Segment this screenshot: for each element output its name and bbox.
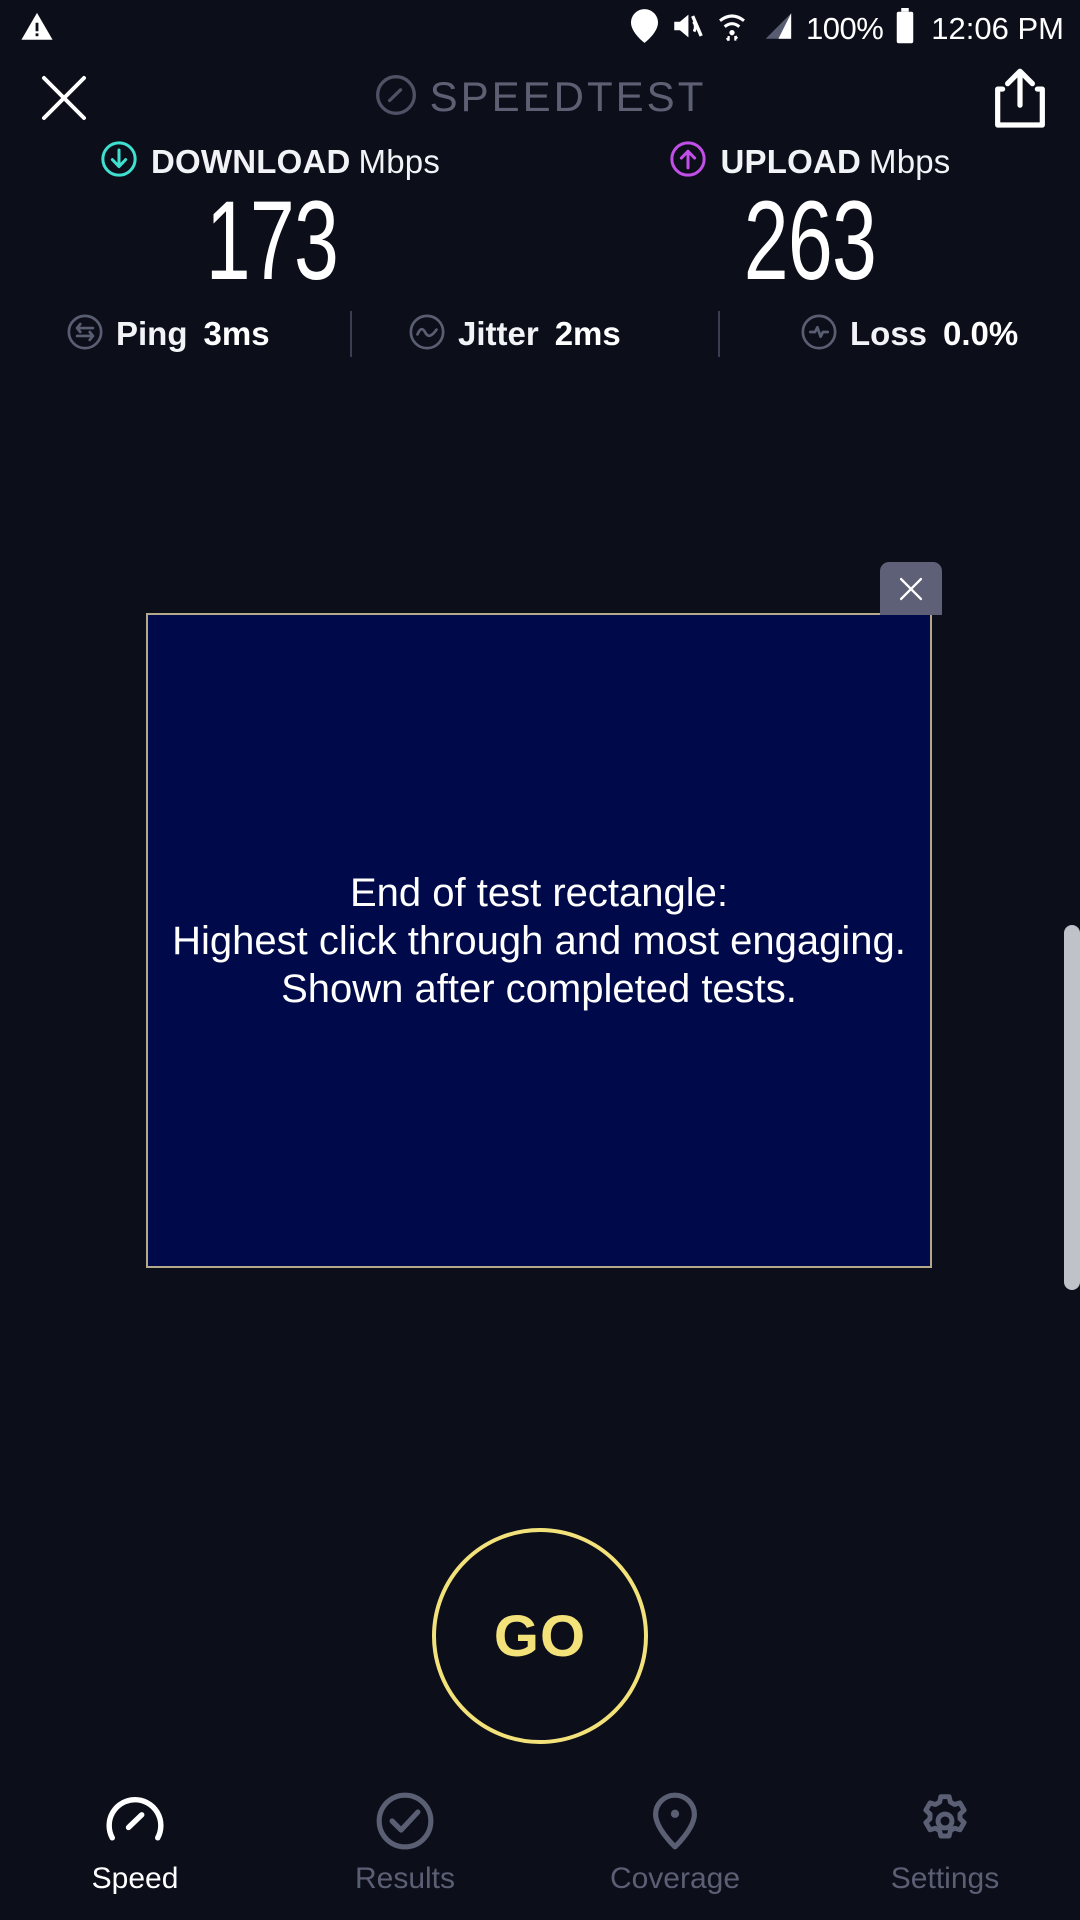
go-button[interactable]: GO — [432, 1528, 648, 1744]
volume-muted-icon — [670, 9, 704, 48]
metrics-divider-1 — [350, 311, 352, 357]
check-circle-icon — [374, 1790, 436, 1852]
page-scrollbar[interactable] — [1064, 925, 1080, 1290]
upload-header: UPLOADMbps — [669, 140, 950, 183]
clock-label: 12:06 PM — [931, 11, 1064, 47]
map-pin-icon — [644, 1790, 706, 1852]
upload-arrow-icon — [669, 140, 707, 183]
metric-loss: Loss 0.0% — [800, 313, 1018, 356]
speedometer-icon — [104, 1790, 166, 1852]
location-pin-icon — [631, 9, 658, 48]
status-icons: 100% 12:06 PM — [631, 8, 1064, 49]
test-results: DOWNLOADMbps 173 UPLOADMbps 263 — [0, 140, 1080, 293]
cellular-signal-icon — [760, 9, 794, 48]
ping-icon — [66, 313, 104, 356]
speedometer-icon — [374, 73, 418, 122]
download-header: DOWNLOADMbps — [100, 140, 440, 183]
metric-loss-value: 0.0% — [943, 315, 1018, 353]
nav-item-results[interactable]: Results — [270, 1772, 540, 1920]
nav-label-speed: Speed — [92, 1862, 179, 1896]
wifi-icon — [716, 9, 748, 48]
go-button-label: GO — [494, 1603, 586, 1670]
metric-loss-label: Loss — [850, 315, 927, 353]
metric-ping-value: 3ms — [204, 315, 270, 353]
ad-close-button[interactable] — [880, 562, 942, 615]
app-header: SPEEDTEST — [0, 54, 1080, 140]
ad-line-1: End of test rectangle: — [350, 869, 728, 917]
nav-item-settings[interactable]: Settings — [810, 1772, 1080, 1920]
download-result: DOWNLOADMbps 173 — [0, 140, 540, 293]
warning-triangle-icon — [20, 10, 54, 49]
download-arrow-icon — [100, 140, 138, 183]
download-label: DOWNLOADMbps — [151, 143, 440, 181]
nav-label-coverage: Coverage — [610, 1862, 740, 1896]
metrics-row: Ping 3ms Jitter 2ms Loss 0.0% — [0, 306, 1080, 362]
nav-label-settings: Settings — [891, 1862, 999, 1896]
metric-jitter: Jitter 2ms — [408, 313, 621, 356]
upload-label: UPLOADMbps — [720, 143, 950, 181]
battery-full-icon — [895, 8, 915, 49]
upload-result: UPLOADMbps 263 — [540, 140, 1080, 293]
app-title-group: SPEEDTEST — [0, 54, 1080, 140]
close-button[interactable] — [34, 68, 94, 128]
metric-ping: Ping 3ms — [66, 313, 270, 356]
nav-item-speed[interactable]: Speed — [0, 1772, 270, 1920]
ad-line-2: Highest click through and most engaging. — [172, 917, 906, 965]
bottom-navigation: Speed Results Coverage — [0, 1772, 1080, 1920]
upload-value: 263 — [744, 189, 876, 293]
advertisement-container: End of test rectangle: Highest click thr… — [146, 613, 932, 1268]
ad-line-3: Shown after completed tests. — [281, 965, 797, 1013]
metric-ping-label: Ping — [116, 315, 188, 353]
ad-text-block: End of test rectangle: Highest click thr… — [146, 613, 932, 1268]
page-title: SPEEDTEST — [430, 73, 707, 121]
loss-icon — [800, 313, 838, 356]
download-value: 173 — [206, 189, 338, 293]
speedtest-app-screen: 100% 12:06 PM SPEEDTEST — [0, 0, 1080, 1920]
gear-icon — [914, 1790, 976, 1852]
battery-percent-label: 100% — [806, 11, 883, 47]
jitter-icon — [408, 313, 446, 356]
share-button[interactable] — [992, 68, 1048, 130]
metrics-divider-2 — [718, 311, 720, 357]
nav-item-coverage[interactable]: Coverage — [540, 1772, 810, 1920]
nav-label-results: Results — [355, 1862, 455, 1896]
metric-jitter-label: Jitter — [458, 315, 539, 353]
metric-jitter-value: 2ms — [555, 315, 621, 353]
status-bar: 100% 12:06 PM — [0, 0, 1080, 54]
